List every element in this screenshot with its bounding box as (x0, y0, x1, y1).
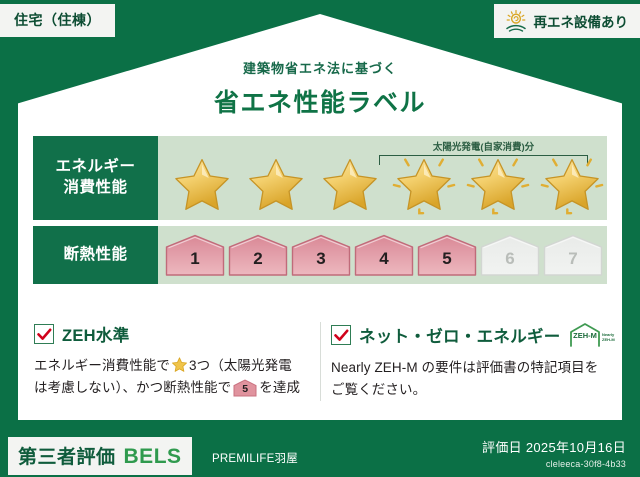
grade-value: 5 (417, 234, 477, 276)
inline-grade-value: 5 (233, 379, 257, 397)
svg-text:ZEH-M: ZEH-M (602, 337, 615, 342)
nzeb-panel-header: ネット・ゼロ・エネルギー ZEH-M Nearly ZEH-M (331, 322, 606, 348)
evaluation-date-value: 2025年10月16日 (526, 440, 626, 455)
renewable-equipment-tag: 再エネ設備あり (494, 4, 640, 38)
solar-sun-icon (503, 9, 529, 33)
renewable-tag-label: 再エネ設備あり (534, 11, 629, 31)
energy-star-rating: 太陽光発電(自家消費)分 (158, 136, 607, 220)
bels-badge: 第三者評価 BELS (8, 437, 192, 475)
nzeb-panel-title: ネット・ゼロ・エネルギー (359, 323, 561, 347)
star-solar (462, 154, 534, 216)
evaluation-date: 評価日 2025年10月16日 (482, 437, 626, 456)
zeh-panel-header: ZEH水準 (34, 322, 310, 346)
grade-badge-active: 1 (165, 234, 225, 276)
star-solar (388, 154, 460, 216)
zeh-panel-title: ZEH水準 (62, 322, 130, 346)
star-icon (462, 154, 534, 216)
star-icon (314, 154, 386, 216)
grade-badge-active: 2 (228, 234, 288, 276)
label-title-block: 建築物省エネ法に基づく 省エネ性能ラベル (0, 58, 640, 119)
evaluation-date-label: 評価日 (482, 440, 522, 455)
zeh-body-part4: を達成 (259, 380, 300, 395)
grade-value: 1 (165, 234, 225, 276)
star-filled (166, 154, 238, 216)
nzeb-panel-body: Nearly ZEH-M の要件は評価書の特記項目をご覧ください。 (331, 357, 606, 401)
building-name: PREMILIFE羽屋 (212, 450, 298, 466)
grade-badge-active: 3 (291, 234, 351, 276)
star-filled (240, 154, 312, 216)
bels-english-label: BELS (124, 445, 182, 469)
star-filled (314, 154, 386, 216)
star-icon (166, 154, 238, 216)
zeh-body-part1: エネルギー消費性能で (34, 358, 170, 373)
grade-strip: 1 2 3 (158, 226, 607, 284)
grade-value: 4 (354, 234, 414, 276)
net-zero-energy-panel: ネット・ゼロ・エネルギー ZEH-M Nearly ZEH-M Nearly Z… (320, 322, 616, 401)
building-type-tag: 住宅（住棟） (0, 4, 115, 37)
solar-bracket-label: 太陽光発電(自家消費)分 (376, 139, 591, 153)
inline-star-icon (171, 357, 188, 373)
evaluation-id: cleleeca-30f8-4b33 (482, 459, 626, 469)
grade-value: 7 (543, 234, 603, 276)
star-solar (536, 154, 608, 216)
grade-badge-active: 4 (354, 234, 414, 276)
grade-value: 6 (480, 234, 540, 276)
criteria-panels: ZEH水準 エネルギー消費性能で 3つ（太陽光発電 は考慮しない）、かつ断熱性能… (24, 322, 616, 401)
grade-value: 3 (291, 234, 351, 276)
zeh-checkbox[interactable] (34, 324, 54, 344)
zeh-body-part3: は考慮しない）、かつ断熱性能で (34, 380, 231, 395)
check-icon (334, 329, 349, 342)
svg-text:ZEH-M: ZEH-M (573, 331, 597, 340)
star-icon (536, 154, 608, 216)
star-strip (158, 152, 607, 218)
grade-value: 2 (228, 234, 288, 276)
evaluation-info: 評価日 2025年10月16日 cleleeca-30f8-4b33 (482, 437, 626, 469)
energy-performance-label: 住宅（住棟） 再エネ設備あり 建築物省エネ法に基づく 省エネ性能ラベル (0, 0, 640, 477)
zeh-m-house-icon: ZEH-M Nearly ZEH-M (569, 322, 615, 348)
insulation-performance-row: 断熱性能 1 2 (33, 226, 607, 284)
energy-performance-row: エネルギー 消費性能 太陽光発電(自家消費)分 (33, 136, 607, 220)
star-icon (388, 154, 460, 216)
grade-badge-inactive: 7 (543, 234, 603, 276)
metrics-section: エネルギー 消費性能 太陽光発電(自家消費)分 (33, 136, 607, 290)
insulation-grade-scale: 1 2 3 (158, 226, 607, 284)
footer-bar: 第三者評価 BELS PREMILIFE羽屋 評価日 2025年10月16日 c… (0, 431, 640, 477)
zeh-panel: ZEH水準 エネルギー消費性能で 3つ（太陽光発電 は考慮しない）、かつ断熱性能… (24, 322, 320, 401)
grade-badge-inactive: 6 (480, 234, 540, 276)
nzeb-checkbox[interactable] (331, 325, 351, 345)
title-main: 省エネ性能ラベル (0, 83, 640, 119)
inline-grade-badge: 5 (233, 379, 257, 397)
zeh-m-logo: ZEH-M Nearly ZEH-M (569, 322, 615, 348)
energy-performance-label: エネルギー 消費性能 (33, 136, 158, 220)
bels-japanese-label: 第三者評価 (18, 442, 116, 469)
zeh-panel-body: エネルギー消費性能で 3つ（太陽光発電 は考慮しない）、かつ断熱性能で 5 を達… (34, 355, 310, 399)
insulation-performance-label: 断熱性能 (33, 226, 158, 284)
check-icon (37, 328, 52, 341)
star-icon (240, 154, 312, 216)
grade-badge-active: 5 (417, 234, 477, 276)
zeh-body-part2: 3つ（太陽光発電 (189, 358, 292, 373)
title-subtitle: 建築物省エネ法に基づく (0, 58, 640, 77)
